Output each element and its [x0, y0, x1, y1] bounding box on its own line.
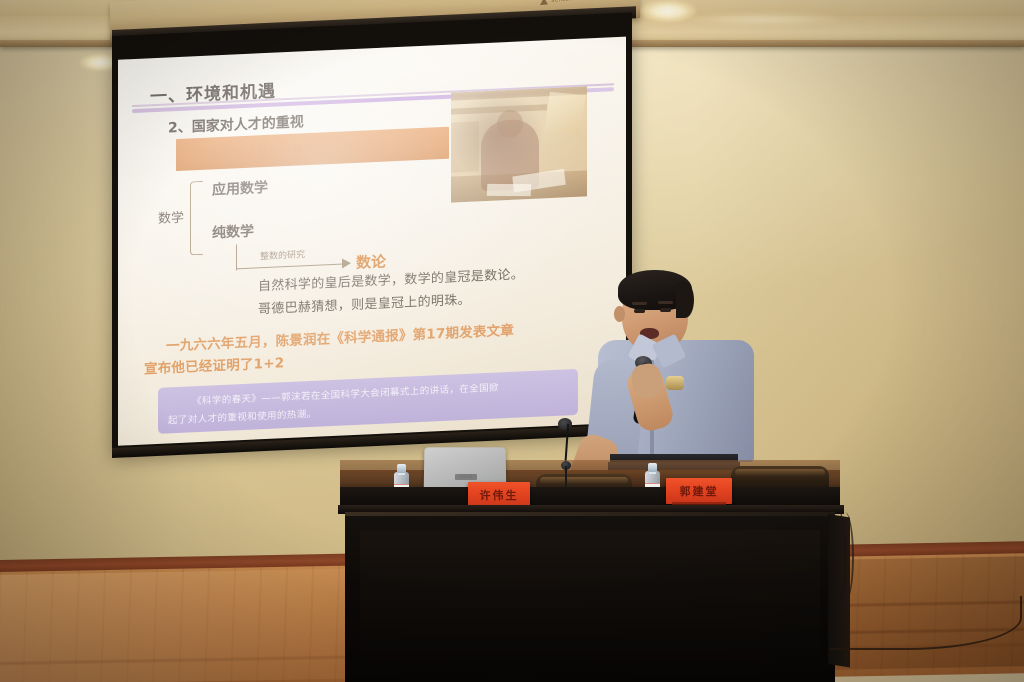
photo-shelf	[451, 104, 547, 114]
slide-quote-line-1: 自然科学的皇后是数学，数学的皇冠是数论。	[258, 263, 524, 294]
photo-shelf	[451, 121, 479, 172]
presentation-slide: 一、环境和机遇 2、国家对人才的重视 报告文学《哥德巴赫猜想》 徐迟	[118, 37, 626, 446]
brand-mark-icon	[540, 0, 548, 5]
bottle-cap	[397, 464, 406, 473]
chair-highlight	[540, 477, 628, 484]
laptop-brand-logo: ASUS	[455, 474, 477, 480]
ceiling-light-icon	[640, 0, 696, 22]
screen-brand-logo: SCREEN	[540, 0, 610, 7]
brand-label: SCREEN	[551, 0, 574, 4]
slide-quote-line-2: 哥德巴赫猜想，则是皇冠上的明珠。	[258, 289, 471, 318]
tree-arrow-label: 整数的研究	[260, 247, 305, 262]
power-cable	[836, 512, 854, 602]
tree-arrow-head-icon	[342, 258, 351, 268]
ceiling-light-glow	[690, 14, 840, 24]
slide-surface: 一、环境和机遇 2、国家对人才的重视 报告文学《哥德巴赫猜想》 徐迟	[118, 37, 626, 446]
tree-arrow-vertical	[236, 244, 251, 271]
slide-footer-box: 《科学的春天》——郭沫若在全国科学大会闭幕式上的讲话，在全国掀 起了对人才的重视…	[158, 369, 578, 434]
wristwatch	[666, 376, 684, 390]
footer-box-line-2: 起了对人才的重视和使用的热潮。	[168, 406, 317, 427]
name-placard-text: 郭建堂	[680, 483, 719, 499]
speaker-eyebrow	[658, 301, 673, 304]
photo-book	[544, 92, 585, 135]
speaker-ear	[614, 306, 625, 322]
speaker-eye	[660, 308, 671, 312]
tree-arrow-horizontal	[236, 263, 344, 269]
projection-screen: 一、环境和机遇 2、国家对人才的重视 报告文学《哥德巴赫猜想》 徐迟	[112, 12, 632, 454]
name-placard-text: 许伟生	[480, 487, 519, 503]
bottle-cap	[648, 463, 657, 472]
slide-highlight-line-2: 宣布他已经证明了1+2	[144, 351, 284, 377]
podium-desk-panel	[360, 530, 820, 665]
tree-brace	[190, 181, 203, 256]
lecture-hall-photo: SCREEN 一、环境和机遇 2、国家对人才的重视 报告文学《哥德巴赫猜想》 徐…	[0, 0, 1024, 682]
chair-highlight	[735, 469, 825, 476]
tree-root-label: 数学	[158, 207, 184, 227]
name-placard: 郭建堂	[666, 478, 732, 504]
banner-text: 报告文学《哥德巴赫猜想》 徐迟	[196, 138, 369, 162]
tree-branch-applied: 应用数学	[212, 177, 268, 200]
speaker-eyebrow	[632, 302, 647, 305]
speaker-hair-side	[676, 282, 694, 318]
footer-box-line-1: 《科学的春天》——郭沫若在全国科学大会闭幕式上的讲话，在全国掀	[192, 379, 499, 407]
tree-branch-pure: 纯数学	[212, 221, 254, 243]
stage-microphone-head-icon	[558, 418, 572, 430]
speaker-eye	[634, 309, 645, 313]
slide-inset-photo	[451, 86, 587, 202]
podium-desk-front-highlight	[345, 512, 835, 516]
slide-highlight-line-1: 一九六六年五月，陈景润在《科学通报》第17期发表文章	[166, 319, 514, 355]
photo-papers	[487, 184, 532, 196]
